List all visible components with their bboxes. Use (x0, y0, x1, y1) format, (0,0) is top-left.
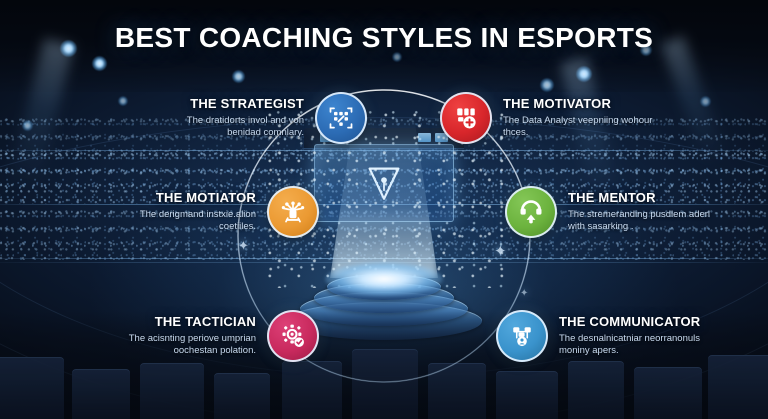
tactician-text: THE TACTICIAN The acisnting periove umpr… (104, 315, 256, 358)
mentor-badge[interactable] (505, 186, 557, 238)
tactician-desc: The acisnting periove umprian oochestan … (104, 333, 256, 357)
motivator-badge[interactable] (440, 92, 492, 144)
sparkle-decoration: ✦ (520, 288, 528, 299)
infographic-canvas: ✦ ✦ ✦ BEST COACHING STYLES IN ESPORTS (0, 0, 768, 419)
communicator-title: THE COMMUNICATOR (559, 315, 711, 329)
mentor-desc: The stremeranding pusdlem aderl with sas… (568, 209, 720, 233)
strategist-desc: The dratidorts invol and von benidad com… (152, 115, 304, 139)
headset-mentor-icon (517, 198, 545, 226)
node-motivator[interactable]: THE MOTIVATOR The Data Analyst veepniing… (440, 92, 655, 144)
tactics-gear-icon (279, 322, 307, 350)
strategist-text: THE STRATEGIST The dratidorts invol and … (152, 97, 304, 140)
stage-light (540, 78, 554, 92)
communicator-desc: The desnalnicatniar neorranonuls moniny … (559, 333, 711, 357)
stage-light (232, 70, 245, 83)
team-burst-icon (279, 198, 307, 226)
node-communicator[interactable]: THE COMMUNICATOR The desnalnicatniar neo… (496, 310, 711, 362)
tactician-title: THE TACTICIAN (104, 315, 256, 329)
strategist-badge[interactable] (315, 92, 367, 144)
medal-plus-icon (452, 104, 480, 132)
motivator-text: THE MOTIVATOR The Data Analyst veepniing… (503, 97, 655, 140)
page-title: BEST COACHING STYLES IN ESPORTS (0, 22, 768, 54)
sparkle-decoration: ✦ (238, 238, 249, 254)
podium-glow (325, 262, 443, 296)
motiator-badge[interactable] (267, 186, 319, 238)
mentor-text: THE MENTOR The stremeranding pusdlem ade… (568, 191, 720, 234)
stage-light (118, 96, 128, 106)
motivator-desc: The Data Analyst veepniing wohour thces. (503, 115, 655, 139)
motiator-text: THE MOTIATOR The derigmand instxie.alion… (104, 191, 256, 234)
analytics-grid-icon (327, 104, 355, 132)
node-strategist[interactable]: THE STRATEGIST The dratidorts invol and … (152, 92, 367, 144)
network-nodes-icon (508, 322, 536, 350)
stage-light (92, 56, 107, 71)
mentor-title: THE MENTOR (568, 191, 720, 205)
tactician-badge[interactable] (267, 310, 319, 362)
node-tactician[interactable]: THE TACTICIAN The acisnting periove umpr… (104, 310, 319, 362)
sparkle-decoration: ✦ (494, 242, 507, 260)
motivator-title: THE MOTIVATOR (503, 97, 655, 111)
motiator-desc: The derigmand instxie.alion coetiiles. (104, 209, 256, 233)
strategist-title: THE STRATEGIST (152, 97, 304, 111)
communicator-text: THE COMMUNICATOR The desnalnicatniar neo… (559, 315, 711, 358)
motiator-title: THE MOTIATOR (104, 191, 256, 205)
node-mentor[interactable]: THE MENTOR The stremeranding pusdlem ade… (505, 186, 720, 238)
node-motiator[interactable]: THE MOTIATOR The derigmand instxie.alion… (104, 186, 319, 238)
communicator-badge[interactable] (496, 310, 548, 362)
